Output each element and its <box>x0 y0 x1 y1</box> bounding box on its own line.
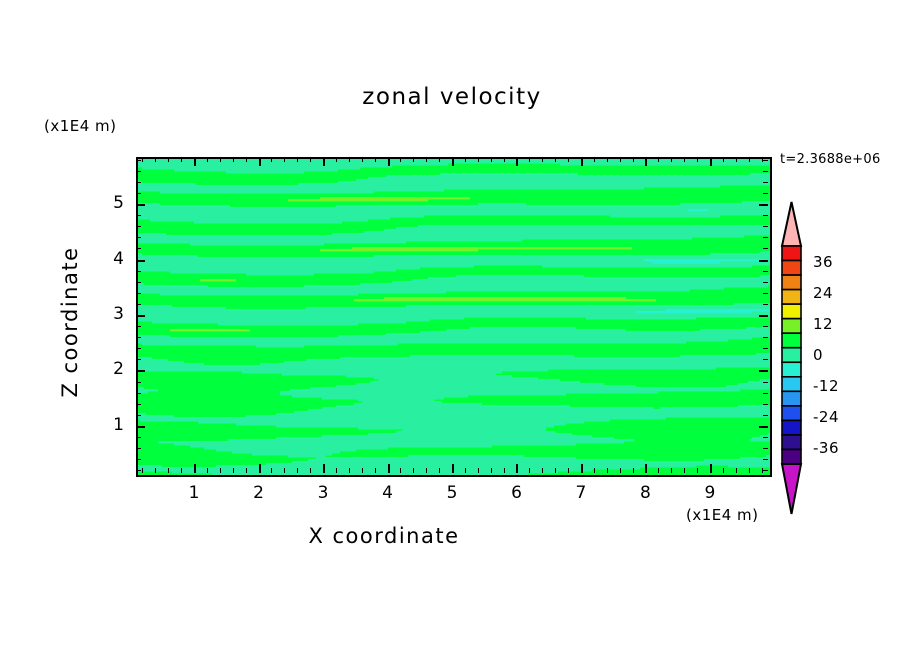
x-major-tick-top <box>710 157 712 166</box>
x-axis-unit-label: (x1E4 m) <box>686 506 759 524</box>
x-minor-tick-top <box>181 157 182 162</box>
y-minor-tick <box>136 237 141 238</box>
x-minor-tick <box>529 468 530 473</box>
y-minor-tick <box>136 382 141 383</box>
y-tick-label: 4 <box>84 249 124 269</box>
y-minor-tick-right <box>763 293 768 294</box>
x-minor-tick-top <box>697 157 698 162</box>
x-minor-tick-top <box>297 157 298 162</box>
x-minor-tick-top <box>336 157 337 162</box>
x-minor-tick-top <box>671 157 672 162</box>
y-minor-tick-right <box>763 304 768 305</box>
x-minor-tick-top <box>349 157 350 162</box>
x-tick-label: 3 <box>303 483 343 503</box>
y-minor-tick-right <box>763 459 768 460</box>
x-minor-tick <box>142 468 143 473</box>
contour-field <box>138 159 770 475</box>
x-minor-tick-top <box>207 157 208 162</box>
y-minor-tick-right <box>763 182 768 183</box>
y-major-tick <box>136 426 145 428</box>
y-major-tick-right <box>759 370 768 372</box>
y-minor-tick <box>136 160 141 161</box>
y-major-tick <box>136 204 145 206</box>
y-major-tick-right <box>759 260 768 262</box>
y-axis-unit-label: (x1E4 m) <box>44 117 117 135</box>
colorbar-band <box>782 435 801 450</box>
x-tick-label: 8 <box>625 483 665 503</box>
x-major-tick-top <box>388 157 390 166</box>
x-major-tick <box>710 464 712 473</box>
x-major-tick-top <box>516 157 518 166</box>
colorbar-band <box>782 449 801 464</box>
x-major-tick <box>645 464 647 473</box>
x-minor-tick-top <box>736 157 737 162</box>
colorbar-tick-label: 36 <box>813 253 833 271</box>
y-minor-tick-right <box>763 326 768 327</box>
x-minor-tick-top <box>142 157 143 162</box>
x-minor-tick <box>400 468 401 473</box>
x-major-tick <box>581 464 583 473</box>
x-minor-tick <box>426 468 427 473</box>
colorbar-tick-label: 12 <box>813 315 833 333</box>
y-minor-tick <box>136 282 141 283</box>
x-minor-tick-top <box>310 157 311 162</box>
page-title: zonal velocity <box>0 84 904 110</box>
x-minor-tick <box>349 468 350 473</box>
x-minor-tick-top <box>375 157 376 162</box>
y-minor-tick <box>136 326 141 327</box>
x-minor-tick <box>504 468 505 473</box>
x-minor-tick <box>375 468 376 473</box>
y-minor-tick <box>136 193 141 194</box>
colorbar-band <box>782 333 801 348</box>
x-minor-tick-top <box>594 157 595 162</box>
x-minor-tick <box>207 468 208 473</box>
x-major-tick <box>194 464 196 473</box>
x-minor-tick-top <box>439 157 440 162</box>
x-minor-tick <box>297 468 298 473</box>
y-minor-tick <box>136 459 141 460</box>
x-minor-tick <box>620 468 621 473</box>
x-minor-tick-top <box>633 157 634 162</box>
colorbar-band <box>782 420 801 435</box>
y-major-tick-right <box>759 204 768 206</box>
x-major-tick-top <box>259 157 261 166</box>
x-minor-tick <box>310 468 311 473</box>
x-minor-tick-top <box>607 157 608 162</box>
y-minor-tick <box>136 393 141 394</box>
x-major-tick <box>516 464 518 473</box>
y-minor-tick <box>136 448 141 449</box>
y-tick-label: 2 <box>84 359 124 379</box>
y-minor-tick-right <box>763 193 768 194</box>
x-minor-tick <box>155 468 156 473</box>
x-minor-tick-top <box>271 157 272 162</box>
x-tick-label: 7 <box>561 483 601 503</box>
y-minor-tick-right <box>763 215 768 216</box>
x-tick-label: 1 <box>174 483 214 503</box>
y-minor-tick <box>136 337 141 338</box>
x-minor-tick-top <box>284 157 285 162</box>
x-minor-tick-top <box>555 157 556 162</box>
y-minor-tick-right <box>763 271 768 272</box>
x-minor-tick-top <box>233 157 234 162</box>
x-major-tick-top <box>645 157 647 166</box>
colorbar-band <box>782 275 801 290</box>
x-minor-tick <box>413 468 414 473</box>
colorbar-band <box>782 362 801 377</box>
x-tick-label: 9 <box>690 483 730 503</box>
x-minor-tick-top <box>400 157 401 162</box>
y-minor-tick-right <box>763 226 768 227</box>
x-minor-tick-top <box>620 157 621 162</box>
x-major-tick <box>259 464 261 473</box>
contour-plot-area <box>136 157 772 477</box>
colorbar-band <box>782 377 801 392</box>
x-minor-tick-top <box>684 157 685 162</box>
colorbar-band <box>782 304 801 319</box>
x-minor-tick-top <box>529 157 530 162</box>
x-minor-tick <box>465 468 466 473</box>
y-minor-tick-right <box>763 404 768 405</box>
y-minor-tick <box>136 215 141 216</box>
y-minor-tick <box>136 271 141 272</box>
colorbar-swatches <box>780 196 900 526</box>
x-minor-tick-top <box>723 157 724 162</box>
colorbar: 3624120-12-24-36 <box>780 196 900 526</box>
x-minor-tick <box>542 468 543 473</box>
x-minor-tick <box>271 468 272 473</box>
y-major-tick <box>136 315 145 317</box>
y-minor-tick <box>136 437 141 438</box>
colorbar-band <box>782 246 801 261</box>
x-tick-label: 4 <box>368 483 408 503</box>
y-minor-tick-right <box>763 282 768 283</box>
x-minor-tick <box>555 468 556 473</box>
x-minor-tick-top <box>491 157 492 162</box>
x-minor-tick-top <box>749 157 750 162</box>
colorbar-tick-label: -36 <box>813 439 839 457</box>
colorbar-band <box>782 406 801 421</box>
x-tick-label: 5 <box>432 483 472 503</box>
colorbar-tick-label: -24 <box>813 408 839 426</box>
x-minor-tick <box>658 468 659 473</box>
colorbar-band <box>782 348 801 363</box>
y-minor-tick-right <box>763 359 768 360</box>
x-major-tick-top <box>452 157 454 166</box>
x-minor-tick <box>684 468 685 473</box>
x-minor-tick <box>607 468 608 473</box>
x-minor-tick <box>220 468 221 473</box>
y-tick-label: 3 <box>84 304 124 324</box>
x-axis-title: X coordinate <box>0 524 768 548</box>
x-major-tick <box>323 464 325 473</box>
x-minor-tick <box>749 468 750 473</box>
x-major-tick <box>388 464 390 473</box>
x-minor-tick <box>181 468 182 473</box>
y-tick-label: 5 <box>84 193 124 213</box>
x-minor-tick <box>568 468 569 473</box>
figure-canvas: zonal velocity (x1E4 m) (x1E4 m) t=2.368… <box>0 0 904 654</box>
x-minor-tick-top <box>246 157 247 162</box>
colorbar-band <box>782 261 801 276</box>
x-minor-tick-top <box>413 157 414 162</box>
y-major-tick <box>136 370 145 372</box>
x-minor-tick-top <box>568 157 569 162</box>
y-minor-tick-right <box>763 160 768 161</box>
x-minor-tick-top <box>542 157 543 162</box>
colorbar-tick-label: 0 <box>813 346 823 364</box>
x-minor-tick <box>697 468 698 473</box>
x-minor-tick <box>736 468 737 473</box>
y-minor-tick <box>136 304 141 305</box>
x-minor-tick <box>168 468 169 473</box>
y-minor-tick-right <box>763 171 768 172</box>
y-tick-label: 1 <box>84 415 124 435</box>
x-major-tick-top <box>581 157 583 166</box>
x-minor-tick <box>491 468 492 473</box>
x-minor-tick <box>633 468 634 473</box>
x-minor-tick <box>336 468 337 473</box>
x-minor-tick-top <box>168 157 169 162</box>
y-minor-tick <box>136 248 141 249</box>
y-minor-tick <box>136 359 141 360</box>
colorbar-band <box>782 290 801 305</box>
y-major-tick-right <box>759 315 768 317</box>
x-minor-tick <box>439 468 440 473</box>
x-tick-label: 2 <box>239 483 279 503</box>
y-minor-tick-right <box>763 237 768 238</box>
colorbar-band <box>782 319 801 334</box>
x-minor-tick-top <box>155 157 156 162</box>
colorbar-band <box>782 391 801 406</box>
y-major-tick <box>136 260 145 262</box>
x-minor-tick <box>362 468 363 473</box>
x-minor-tick-top <box>504 157 505 162</box>
y-minor-tick <box>136 226 141 227</box>
x-major-tick-top <box>323 157 325 166</box>
x-minor-tick <box>284 468 285 473</box>
y-major-tick-right <box>759 426 768 428</box>
x-major-tick-top <box>194 157 196 166</box>
x-minor-tick <box>723 468 724 473</box>
x-minor-tick <box>246 468 247 473</box>
y-minor-tick <box>136 348 141 349</box>
y-minor-tick-right <box>763 437 768 438</box>
x-minor-tick-top <box>658 157 659 162</box>
x-minor-tick <box>478 468 479 473</box>
y-minor-tick <box>136 470 141 471</box>
x-minor-tick-top <box>478 157 479 162</box>
x-tick-label: 6 <box>496 483 536 503</box>
y-minor-tick-right <box>763 382 768 383</box>
colorbar-tick-label: -12 <box>813 377 839 395</box>
y-minor-tick-right <box>763 415 768 416</box>
colorbar-over-arrow <box>782 202 801 246</box>
x-minor-tick-top <box>465 157 466 162</box>
y-minor-tick-right <box>763 393 768 394</box>
y-minor-tick <box>136 404 141 405</box>
time-annotation: t=2.3688e+06 <box>780 152 881 167</box>
x-minor-tick-top <box>362 157 363 162</box>
y-minor-tick-right <box>763 248 768 249</box>
y-minor-tick-right <box>763 448 768 449</box>
y-minor-tick-right <box>763 348 768 349</box>
colorbar-under-arrow <box>782 464 801 514</box>
y-minor-tick-right <box>763 337 768 338</box>
x-minor-tick <box>233 468 234 473</box>
x-minor-tick <box>594 468 595 473</box>
x-minor-tick-top <box>426 157 427 162</box>
y-axis-title: Z coordinate <box>58 222 82 422</box>
y-minor-tick <box>136 171 141 172</box>
y-minor-tick <box>136 293 141 294</box>
x-major-tick <box>452 464 454 473</box>
x-minor-tick-top <box>220 157 221 162</box>
colorbar-tick-label: 24 <box>813 284 833 302</box>
y-minor-tick-right <box>763 470 768 471</box>
y-minor-tick <box>136 182 141 183</box>
x-minor-tick <box>671 468 672 473</box>
y-minor-tick <box>136 415 141 416</box>
